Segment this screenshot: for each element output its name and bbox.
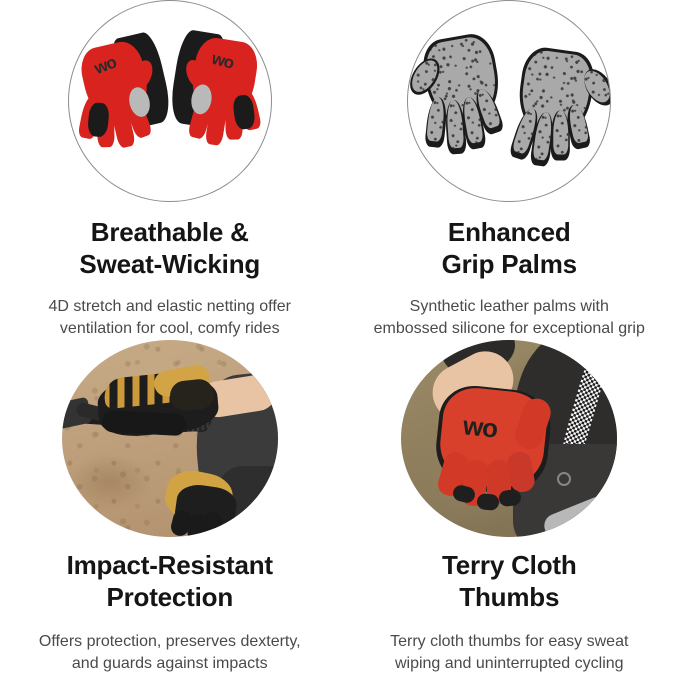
feature-caption: 4D stretch and elastic netting offer ven… — [0, 296, 340, 340]
gloved-hand-on-handlebar-photo — [62, 340, 278, 537]
feature-caption: Synthetic leather palms with embossed si… — [340, 296, 679, 340]
feature-heading: Impact-Resistant Protection — [67, 549, 273, 613]
red-glove-on-rider-photo: wo — [401, 340, 617, 537]
feature-heading: Terry Cloth Thumbs — [442, 549, 577, 613]
glove-right-shape: wo — [165, 28, 272, 153]
feature-heading: Enhanced Grip Palms — [442, 216, 577, 280]
red-cycling-gloves-pair-image: wo wo — [68, 0, 272, 202]
glove-logo: wo — [462, 410, 499, 444]
feature-card-breathable-sweat-wicking: wo wo Breathable & Sweat-Wicking 4D — [0, 0, 340, 340]
glove-left-shape: wo — [68, 30, 178, 156]
feature-grid: wo wo Breathable & Sweat-Wicking 4D — [0, 0, 679, 675]
feature-heading: Breathable & Sweat-Wicking — [79, 216, 260, 280]
feature-card-enhanced-grip-palms: Enhanced Grip Palms Synthetic leather pa… — [340, 0, 679, 340]
feature-card-impact-resistant-protection: Impact-Resistant Protection Offers prote… — [0, 340, 340, 675]
feature-caption: Offers protection, preserves dexterty, a… — [0, 631, 340, 675]
feature-card-terry-cloth-thumbs: wo Terry Cloth Thumbs Terry cloth thumbs… — [340, 340, 679, 675]
palm-glove-right-shape — [492, 38, 611, 171]
grey-silicone-palm-gloves-image — [407, 0, 611, 202]
feature-caption: Terry cloth thumbs for easy sweat wiping… — [340, 631, 679, 675]
